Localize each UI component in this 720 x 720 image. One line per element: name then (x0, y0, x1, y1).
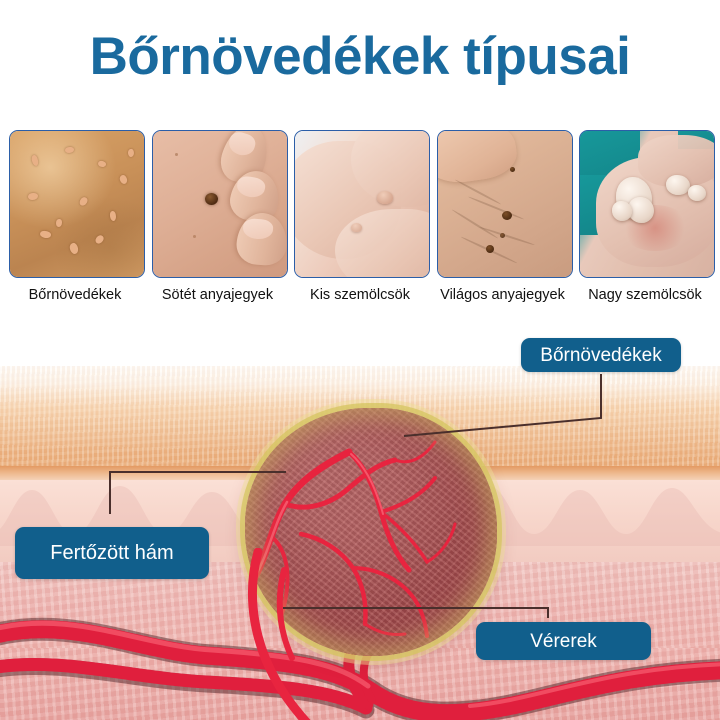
thumbnail-card-small-warts[interactable] (294, 130, 430, 278)
skin-cross-section-diagram: Bőrnövedékek Fertőzött hám Vérerek (0, 318, 720, 720)
light-moles-photo (437, 130, 573, 278)
caption-skin-tags: Bőrnövedékek (4, 284, 146, 306)
caption-large-warts: Nagy szemölcsök (574, 284, 716, 306)
large-warts-photo (579, 130, 715, 278)
small-warts-photo (294, 130, 430, 278)
thumbnail-card-large-warts[interactable] (579, 130, 715, 278)
feeder-vessel (230, 548, 430, 720)
callout-infected-epidermis[interactable]: Fertőzött hám (15, 527, 209, 579)
thumbnail-caption-row: Bőrnövedékek Sötét anyajegyek Kis szemöl… (0, 284, 720, 306)
caption-dark-moles: Sötét anyajegyek (147, 284, 289, 306)
dark-moles-photo (152, 130, 288, 278)
callout-skin-growths[interactable]: Bőrnövedékek (521, 338, 681, 372)
thumbnail-card-skin-tags[interactable] (9, 130, 145, 278)
thumbnail-card-dark-moles[interactable] (152, 130, 288, 278)
callout-blood-vessels[interactable]: Vérerek (476, 622, 651, 660)
caption-light-moles: Világos anyajegyek (432, 284, 574, 306)
page-title: Bőrnövedékek típusai (0, 26, 720, 87)
thumbnail-strip (9, 130, 715, 278)
caption-small-warts: Kis szemölcsök (289, 284, 431, 306)
skin-tags-photo (9, 130, 145, 278)
thumbnail-card-light-moles[interactable] (437, 130, 573, 278)
